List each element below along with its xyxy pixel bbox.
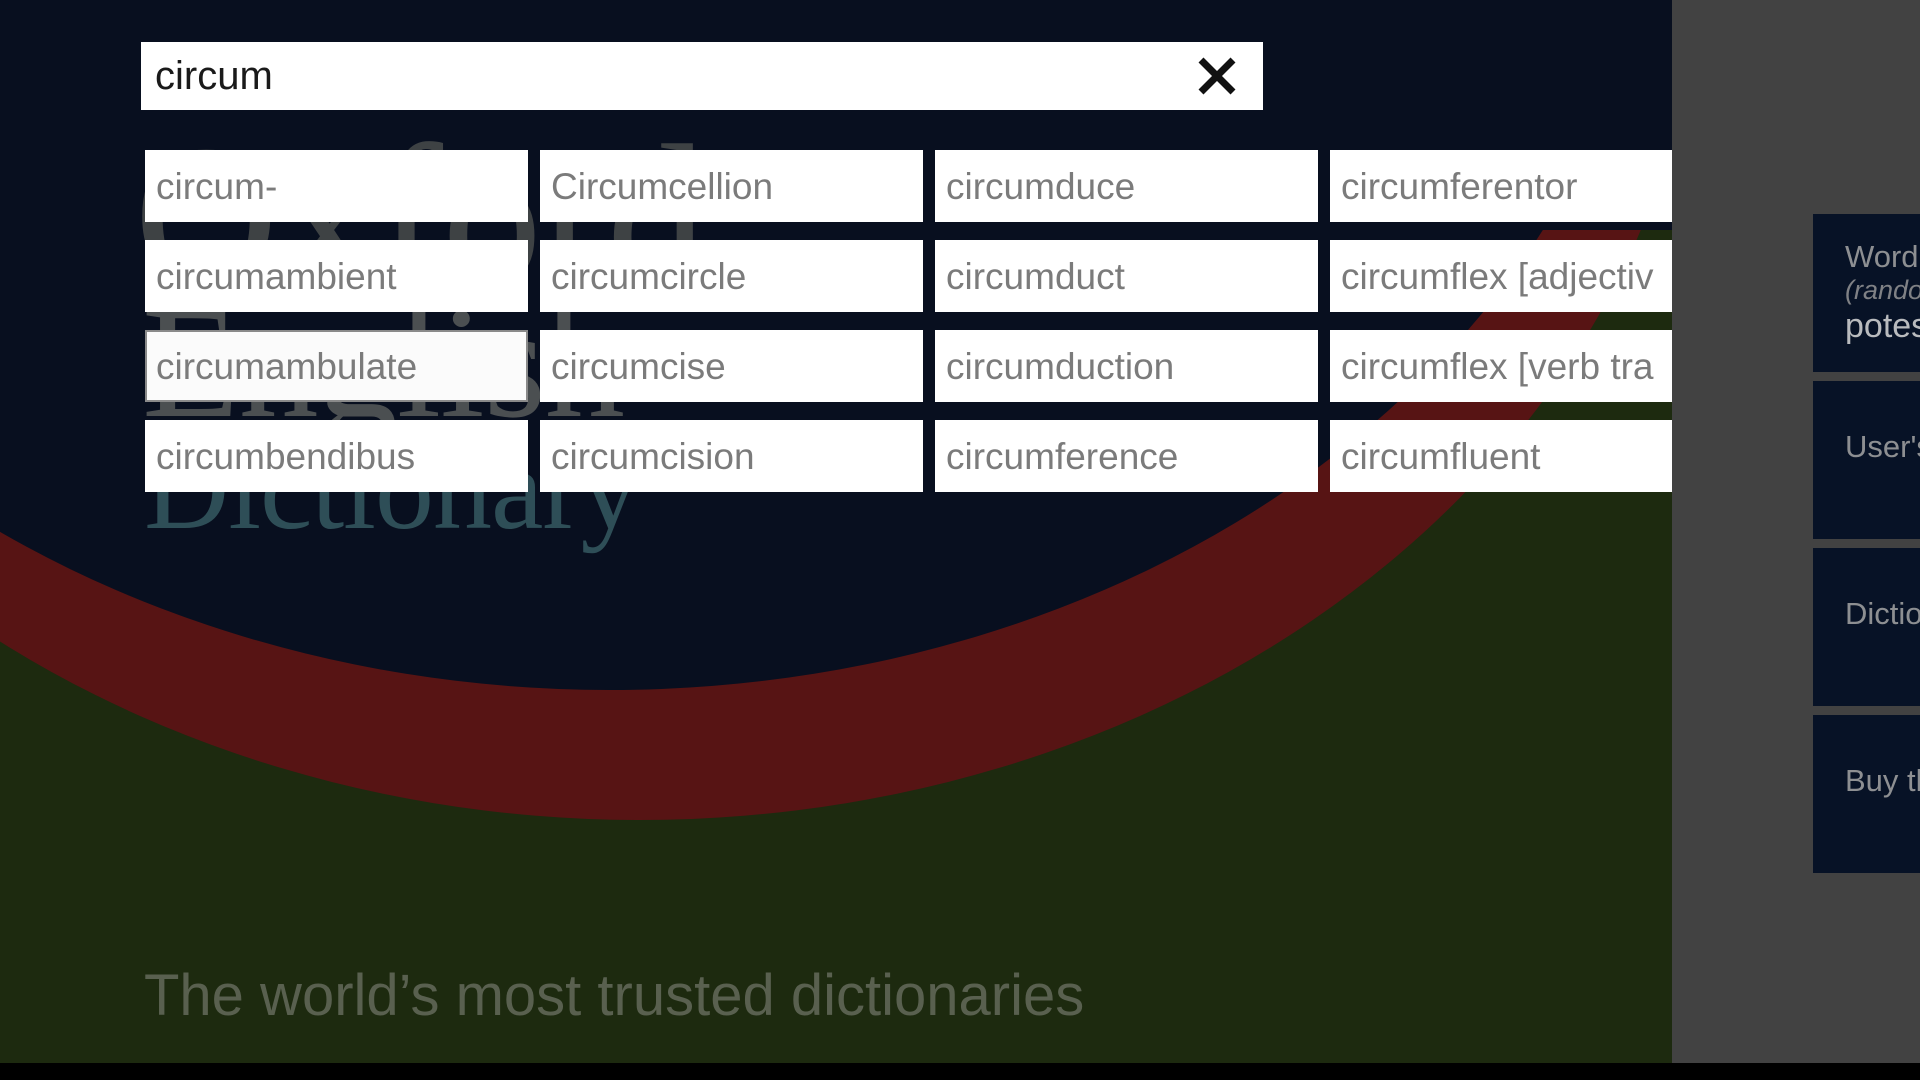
suggestion-item-label: circumambulate xyxy=(156,348,417,385)
search-suggestions-grid: circum-Circumcellioncircumducecircumfere… xyxy=(145,150,1672,492)
suggestion-item[interactable]: circumbendibus xyxy=(145,420,528,492)
suggestion-item-label: circum- xyxy=(156,168,277,205)
suggestion-item[interactable]: circumcircle xyxy=(540,240,923,312)
suggestion-item[interactable]: circumcision xyxy=(540,420,923,492)
suggestion-item-label: Circumcellion xyxy=(551,168,773,205)
tile-word-of-the-day-subtitle: (rando xyxy=(1845,275,1920,306)
bottom-black-strip xyxy=(0,1063,1920,1080)
tile-dictionaries-title: Dictio xyxy=(1845,548,1920,680)
suggestion-item-label: circumduction xyxy=(946,348,1174,385)
dictionary-app-panel: Oxford English Dictionary The world’s mo… xyxy=(0,0,1672,1063)
right-rail: Word (rando potes User's Dictio Buy th xyxy=(1672,0,1920,1063)
suggestion-item-label: circumcision xyxy=(551,438,755,475)
suggestion-item-label: circumferentor xyxy=(1341,168,1577,205)
tile-users-guide[interactable]: User's xyxy=(1813,381,1920,539)
suggestion-item-label: circumcircle xyxy=(551,258,746,295)
suggestion-item[interactable]: Circumcellion xyxy=(540,150,923,222)
suggestion-item[interactable]: circumduct xyxy=(935,240,1318,312)
suggestion-item[interactable]: circumduction xyxy=(935,330,1318,402)
tile-word-of-the-day[interactable]: Word (rando potes xyxy=(1813,214,1920,372)
suggestion-item[interactable]: circum- xyxy=(145,150,528,222)
suggestion-item-label: circumfluent xyxy=(1341,438,1540,475)
search-bar[interactable] xyxy=(141,42,1263,110)
suggestion-item[interactable]: circumferentor xyxy=(1330,150,1672,222)
screen: Oxford English Dictionary The world’s mo… xyxy=(0,0,1920,1080)
suggestion-item[interactable]: circumflex [adjectiv xyxy=(1330,240,1672,312)
suggestion-item-label: circumduct xyxy=(946,258,1125,295)
suggestion-item-label: circumbendibus xyxy=(156,438,415,475)
suggestion-item[interactable]: circumambient xyxy=(145,240,528,312)
tagline: The world’s most trusted dictionaries xyxy=(144,962,1084,1029)
search-input[interactable] xyxy=(141,43,1171,109)
suggestion-item[interactable]: circumflex [verb tra xyxy=(1330,330,1672,402)
tile-users-guide-title: User's xyxy=(1845,381,1920,513)
tile-word-of-the-day-title: Word xyxy=(1845,240,1920,275)
tile-buy[interactable]: Buy th xyxy=(1813,715,1920,873)
suggestion-item-label: circumference xyxy=(946,438,1178,475)
suggestion-item-label: circumcise xyxy=(551,348,726,385)
suggestion-item-label: circumflex [adjectiv xyxy=(1341,258,1654,295)
suggestion-item[interactable]: circumference xyxy=(935,420,1318,492)
tile-word-of-the-day-word: potes xyxy=(1845,307,1920,346)
search-clear-button[interactable] xyxy=(1171,42,1263,110)
suggestion-item[interactable]: circumcise xyxy=(540,330,923,402)
suggestion-item-label: circumambient xyxy=(156,258,397,295)
suggestion-item[interactable]: circumfluent xyxy=(1330,420,1672,492)
close-icon xyxy=(1195,54,1239,98)
tile-buy-title: Buy th xyxy=(1845,715,1920,847)
suggestion-item[interactable]: circumambulate xyxy=(145,330,528,402)
suggestion-item-label: circumduce xyxy=(946,168,1135,205)
suggestion-item[interactable]: circumduce xyxy=(935,150,1318,222)
tile-dictionaries[interactable]: Dictio xyxy=(1813,548,1920,706)
suggestion-item-label: circumflex [verb tra xyxy=(1341,348,1654,385)
